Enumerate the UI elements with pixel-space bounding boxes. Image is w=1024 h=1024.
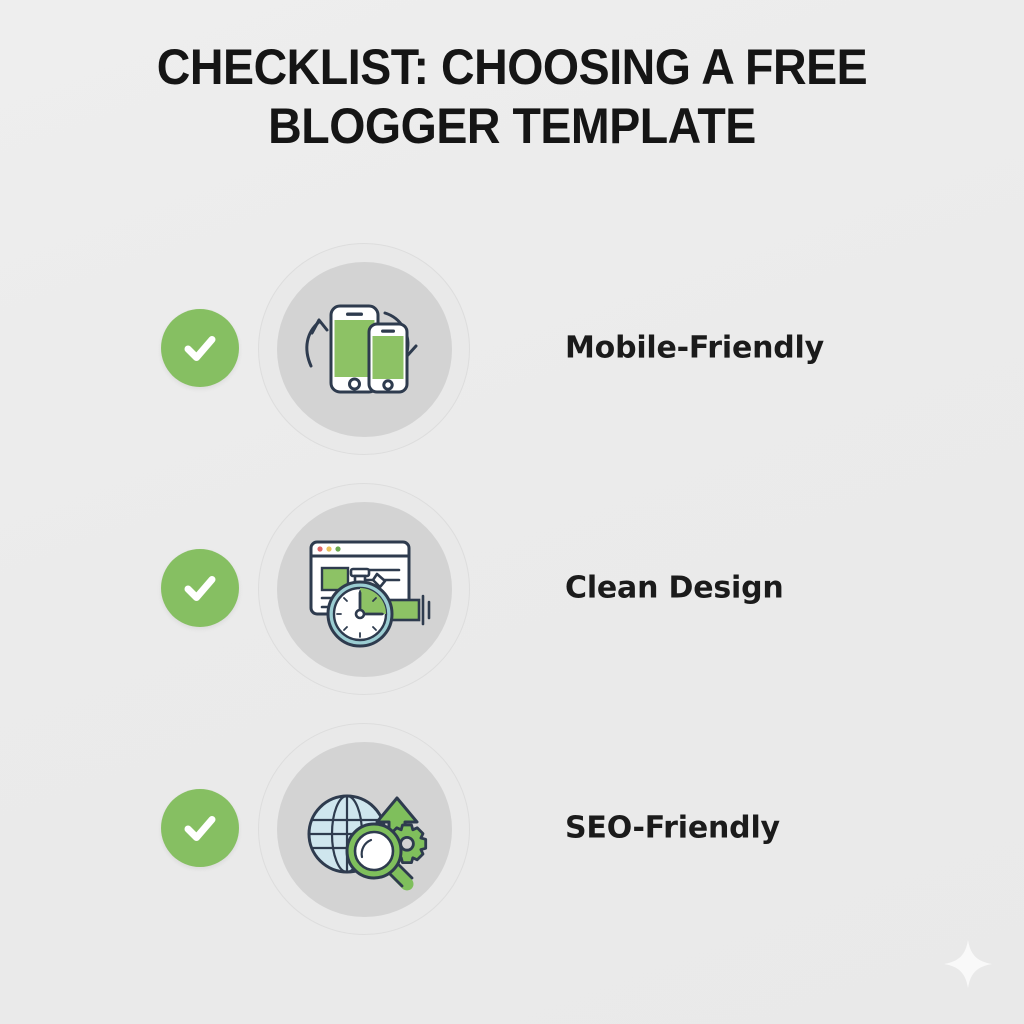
mobile-devices-rotate-icon xyxy=(277,262,452,437)
checklist-item-clean-design[interactable]: Clean Design xyxy=(0,468,1024,708)
icon-badge-clean-design xyxy=(258,483,470,695)
title-line-1: CHECKLIST: CHOOSING A FREE xyxy=(129,38,895,97)
sparkle-icon xyxy=(942,938,994,990)
check-icon[interactable] xyxy=(161,309,239,387)
poster-canvas: CHECKLIST: CHOOSING A FREE BLOGGER TEMPL… xyxy=(0,0,1024,1024)
browser-stopwatch-icon xyxy=(277,502,452,677)
checklist: Mobile-Friendly xyxy=(0,228,1024,948)
check-icon[interactable] xyxy=(161,789,239,867)
icon-badge-mobile xyxy=(258,243,470,455)
checklist-item-mobile-friendly[interactable]: Mobile-Friendly xyxy=(0,228,1024,468)
checklist-item-label: SEO-Friendly xyxy=(565,811,780,846)
globe-magnifier-gear-icon xyxy=(277,742,452,917)
check-icon[interactable] xyxy=(161,549,239,627)
icon-badge-seo xyxy=(258,723,470,935)
checklist-item-label: Mobile-Friendly xyxy=(565,331,824,366)
page-title: CHECKLIST: CHOOSING A FREE BLOGGER TEMPL… xyxy=(0,38,1024,156)
checklist-item-seo-friendly[interactable]: SEO-Friendly xyxy=(0,708,1024,948)
title-line-2: BLOGGER TEMPLATE xyxy=(129,97,895,156)
checklist-item-label: Clean Design xyxy=(565,571,784,606)
